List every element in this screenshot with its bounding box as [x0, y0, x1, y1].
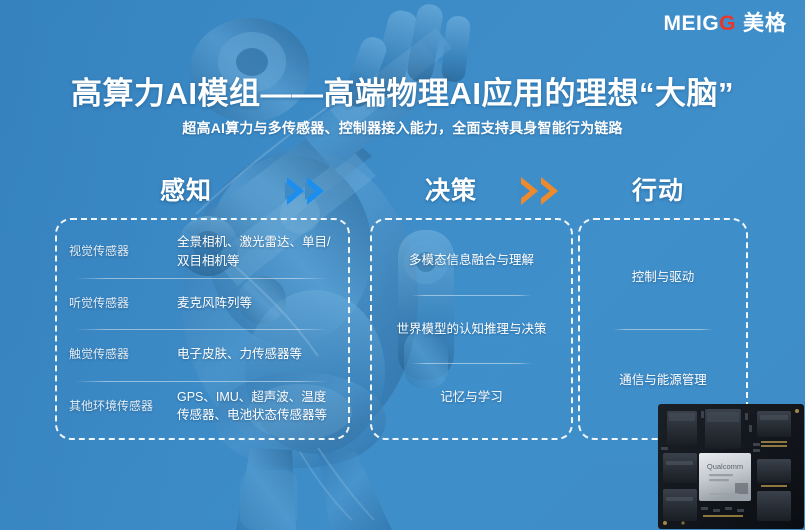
list-item: 控制与驱动: [590, 226, 736, 329]
chevron-right-icon: [307, 177, 324, 205]
soc-chip-label: Qualcomm: [707, 462, 743, 471]
list-item: 视觉传感器 全景相机、激光雷达、单目/双目相机等: [69, 226, 334, 278]
logo-wordmark-text: MEIG: [663, 13, 719, 34]
decision-capability-text: 记忆与学习: [440, 388, 503, 407]
slide-root: MEIGG 美格 高算力AI模组——高端物理AI应用的理想“大脑” 超高AI算力…: [0, 0, 805, 530]
sensor-detail-value: 麦克风阵列等: [177, 294, 334, 313]
list-item: 听觉传感器 麦克风阵列等: [69, 278, 334, 330]
stage-heading-perception: 感知: [160, 171, 212, 207]
sensor-category-label: 听觉传感器: [69, 295, 177, 312]
page-subtitle: 超高AI算力与多传感器、控制器接入能力，全面支持具身智能行为链路: [0, 118, 805, 138]
sensor-category-label: 触觉传感器: [69, 346, 177, 363]
page-title: 高算力AI模组——高端物理AI应用的理想“大脑”: [0, 68, 805, 113]
logo-chinese-name: 美格: [743, 13, 787, 34]
arrow-group-decision-to-action: [521, 177, 558, 205]
chevron-right-icon: [521, 177, 538, 205]
brand-logo: MEIGG 美格: [663, 10, 787, 36]
action-capability-text: 控制与驱动: [632, 268, 695, 287]
ai-module-board-image: Qualcomm: [657, 403, 805, 530]
panel-perception: 视觉传感器 全景相机、激光雷达、单目/双目相机等 听觉传感器 麦克风阵列等 触觉…: [55, 218, 350, 440]
stage-heading-decision: 决策: [425, 171, 477, 207]
sensor-category-label: 其他环境传感器: [69, 398, 177, 415]
arrow-group-perception-to-decision: [287, 177, 324, 205]
action-capability-text: 通信与能源管理: [619, 371, 707, 390]
decision-capability-text: 多模态信息融合与理解: [409, 251, 534, 270]
sensor-detail-value: 电子皮肤、力传感器等: [177, 345, 334, 364]
sensor-detail-value: 全景相机、激光雷达、单目/双目相机等: [177, 233, 334, 271]
decision-capability-text: 世界模型的认知推理与决策: [396, 320, 546, 339]
panel-decision: 多模态信息融合与理解 世界模型的认知推理与决策 记忆与学习: [370, 218, 573, 440]
stage-heading-action: 行动: [632, 171, 684, 207]
list-item: 世界模型的认知推理与决策: [382, 295, 561, 364]
chevron-right-icon: [541, 177, 558, 205]
sensor-category-label: 视觉传感器: [69, 243, 177, 260]
perception-row-list: 视觉传感器 全景相机、激光雷达、单目/双目相机等 听觉传感器 麦克风阵列等 触觉…: [57, 220, 348, 438]
list-item: 多模态信息融合与理解: [382, 226, 561, 295]
sensor-detail-value: GPS、IMU、超声波、温度传感器、电池状态传感器等: [177, 388, 334, 426]
logo-wordmark: MEIGG: [663, 13, 736, 34]
decision-row-list: 多模态信息融合与理解 世界模型的认知推理与决策 记忆与学习: [372, 220, 571, 438]
list-item: 触觉传感器 电子皮肤、力传感器等: [69, 329, 334, 381]
list-item: 记忆与学习: [382, 363, 561, 432]
logo-highlight-letter: G: [719, 13, 736, 34]
chevron-right-icon: [287, 177, 304, 205]
list-item: 其他环境传感器 GPS、IMU、超声波、温度传感器、电池状态传感器等: [69, 381, 334, 433]
